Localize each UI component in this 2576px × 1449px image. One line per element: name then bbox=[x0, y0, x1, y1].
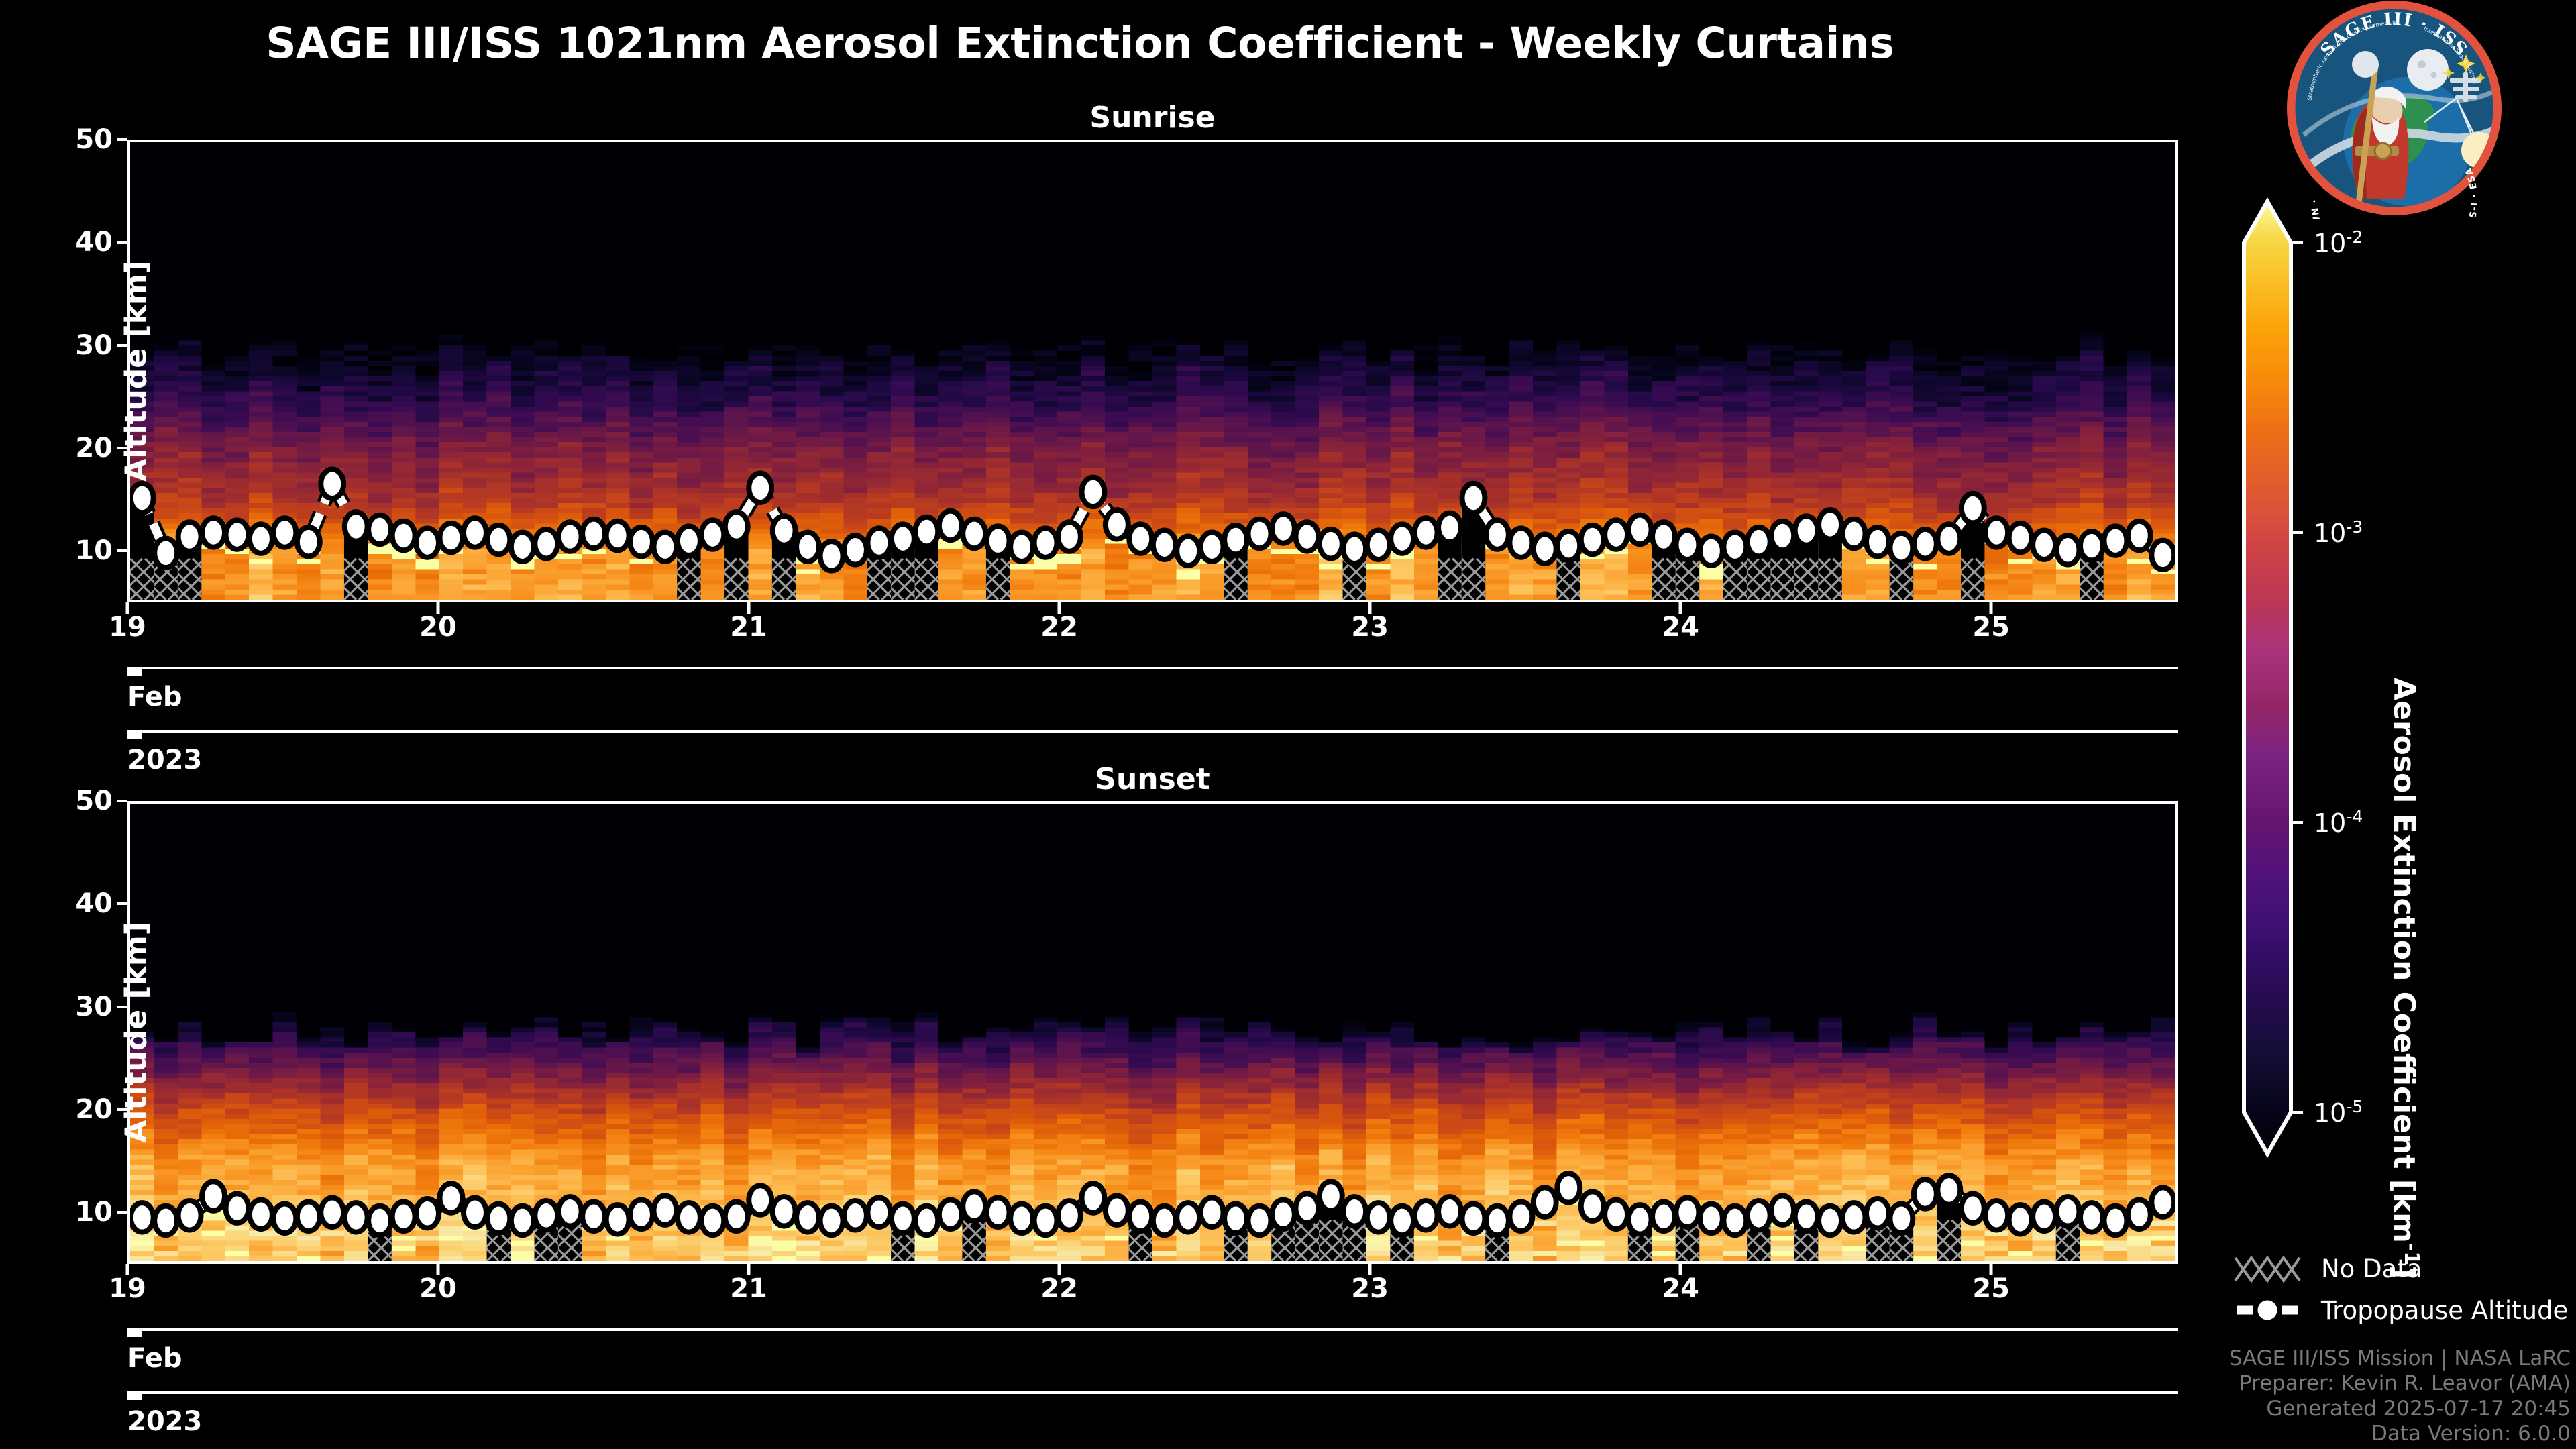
sunset-xtick-label: 19 bbox=[109, 1273, 146, 1304]
sunrise-xtick-mark bbox=[1368, 602, 1372, 614]
sage-iii-iss-mission-patch-logo: SAGE III · ISS Stratospheric Aerosol and… bbox=[2284, 0, 2505, 219]
sunrise-ytick-mark bbox=[117, 138, 127, 141]
sunset-xtick-label: 25 bbox=[1972, 1273, 2010, 1304]
date-level-rule bbox=[127, 1328, 2178, 1331]
footer-credits: SAGE III/ISS Mission | NASA LaRC Prepare… bbox=[2229, 1346, 2571, 1446]
sunset-xtick-label: 24 bbox=[1662, 1273, 1699, 1304]
colorbar-title: Aerosol Extinction Coefficient [km-1] bbox=[2387, 678, 2423, 1279]
sunrise-axes[interactable] bbox=[127, 140, 2178, 602]
cb-tick-mantissa: 10 bbox=[2314, 1098, 2346, 1128]
sunrise-ytick-mark bbox=[117, 344, 127, 347]
sunrise-xtick-mark bbox=[1990, 602, 1993, 614]
panel-sunrise: Sunrise Altitude [km] 1020304050 1920212… bbox=[127, 140, 2178, 602]
sunrise-xtick-mark bbox=[437, 602, 440, 614]
date-level-nub bbox=[127, 1391, 142, 1400]
sunset-date-level-month-label: Feb bbox=[127, 1343, 182, 1374]
footer-line-mission: SAGE III/ISS Mission | NASA LaRC bbox=[2229, 1346, 2571, 1371]
sunrise-ytick-label: 10 bbox=[75, 535, 113, 566]
sunset-xtick-label: 23 bbox=[1351, 1273, 1389, 1304]
colorbar-tick-mark bbox=[2291, 1111, 2303, 1114]
colorbar[interactable]: 10-210-310-410-5 Aerosol Extinction Coef… bbox=[2244, 201, 2291, 1154]
sunset-tropopause-series bbox=[130, 804, 2175, 1261]
sunset-ytick-label: 50 bbox=[75, 786, 113, 816]
sunrise-xtick-label: 23 bbox=[1351, 612, 1389, 643]
sunset-xtick-label: 20 bbox=[419, 1273, 457, 1304]
footer-line-version: Data Version: 6.0.0 bbox=[2229, 1421, 2571, 1446]
legend-label-tropopause: Tropopause Altitude bbox=[2309, 1296, 2568, 1325]
sunrise-xtick-label: 20 bbox=[419, 612, 457, 643]
date-level-nub bbox=[127, 1328, 142, 1337]
sunrise-ytick-mark bbox=[117, 447, 127, 449]
sunset-ytick-label: 10 bbox=[75, 1197, 113, 1228]
legend-item-tropopause: Tropopause Altitude bbox=[2234, 1289, 2568, 1331]
date-level-nub bbox=[127, 730, 142, 739]
cb-tick-mantissa: 10 bbox=[2314, 519, 2346, 548]
colorbar-tick-mark bbox=[2291, 531, 2303, 534]
sunrise-xtick-mark bbox=[126, 602, 129, 614]
sunset-date-level-year-label: 2023 bbox=[127, 1406, 202, 1437]
sunrise-xtick-mark bbox=[747, 602, 751, 614]
sunset-xtick-mark bbox=[747, 1264, 751, 1275]
date-level-rule bbox=[127, 1391, 2178, 1394]
sunset-axes[interactable] bbox=[127, 801, 2178, 1264]
cb-tick-exponent: -3 bbox=[2346, 517, 2363, 537]
sunset-ytick-label: 20 bbox=[75, 1094, 113, 1125]
page-title: SAGE III/ISS 1021nm Aerosol Extinction C… bbox=[0, 19, 2160, 68]
cb-tick-mantissa: 10 bbox=[2314, 229, 2346, 258]
sunrise-xtick-label: 25 bbox=[1972, 612, 2010, 643]
sunrise-xtick-label: 19 bbox=[109, 612, 146, 643]
sunset-ytick-mark bbox=[117, 1006, 127, 1008]
sunrise-date-level-month-label: Feb bbox=[127, 682, 182, 712]
sunrise-ytick-label: 50 bbox=[75, 124, 113, 155]
colorbar-tick-label: 10-4 bbox=[2314, 807, 2363, 838]
sunset-xtick-mark bbox=[1368, 1264, 1372, 1275]
sunset-xtick-label: 22 bbox=[1040, 1273, 1078, 1304]
footer-line-preparer: Preparer: Kevin R. Leavor (AMA) bbox=[2229, 1371, 2571, 1396]
sunset-xtick-mark bbox=[437, 1264, 440, 1275]
sunrise-ytick-label: 20 bbox=[75, 433, 113, 464]
colorbar-tick-label: 10-5 bbox=[2314, 1097, 2363, 1128]
legend: No Data Tropopause Altitude bbox=[2234, 1248, 2568, 1331]
date-level-nub bbox=[127, 667, 142, 676]
sunset-xtick-mark bbox=[1679, 1264, 1682, 1275]
sunset-xtick-mark bbox=[126, 1264, 129, 1275]
no-data-hatch-icon bbox=[2234, 1251, 2309, 1286]
tropopause-marker-icon bbox=[2234, 1293, 2309, 1328]
sunrise-tropopause-series bbox=[130, 142, 2175, 600]
sunrise-xtick-label: 21 bbox=[730, 612, 767, 643]
panel-sunrise-title: Sunrise bbox=[127, 101, 2178, 135]
sunset-xtick-mark bbox=[1990, 1264, 1993, 1275]
sunset-ytick-mark bbox=[117, 800, 127, 802]
sunrise-ytick-label: 30 bbox=[75, 330, 113, 361]
sunset-ytick-mark bbox=[117, 1108, 127, 1111]
colorbar-tick-mark bbox=[2291, 241, 2303, 244]
cb-tick-exponent: -5 bbox=[2346, 1097, 2363, 1116]
sunrise-xtick-mark bbox=[1679, 602, 1682, 614]
sunset-ytick-label: 30 bbox=[75, 991, 113, 1022]
legend-label-no-data: No Data bbox=[2309, 1254, 2422, 1283]
cb-tick-mantissa: 10 bbox=[2314, 808, 2346, 838]
sunset-ytick-mark bbox=[117, 1211, 127, 1214]
footer-line-generated: Generated 2025-07-17 20:45 bbox=[2229, 1397, 2571, 1421]
legend-item-no-data: No Data bbox=[2234, 1248, 2568, 1289]
sunrise-xtick-label: 22 bbox=[1040, 612, 1078, 643]
cb-tick-exponent: -2 bbox=[2346, 227, 2363, 247]
cb-tick-exponent: -4 bbox=[2346, 807, 2363, 826]
date-level-rule bbox=[127, 667, 2178, 669]
figure-canvas: SAGE III/ISS 1021nm Aerosol Extinction C… bbox=[0, 0, 2576, 1449]
sunrise-ytick-mark bbox=[117, 241, 127, 244]
sunset-xtick-label: 21 bbox=[730, 1273, 767, 1304]
sunset-xtick-mark bbox=[1058, 1264, 1061, 1275]
colorbar-tick-mark bbox=[2291, 821, 2303, 824]
colorbar-tick-label: 10-2 bbox=[2314, 227, 2363, 258]
sunrise-ytick-label: 40 bbox=[75, 227, 113, 258]
sunrise-xtick-label: 24 bbox=[1662, 612, 1699, 643]
colorbar-gradient bbox=[2244, 201, 2291, 1154]
date-level-rule bbox=[127, 730, 2178, 733]
sunset-ytick-label: 40 bbox=[75, 888, 113, 919]
sunrise-xtick-mark bbox=[1058, 602, 1061, 614]
sunset-ytick-mark bbox=[117, 902, 127, 905]
sunrise-ytick-mark bbox=[117, 549, 127, 552]
panel-sunset: Sunset Altitude [km] 1020304050 19202122… bbox=[127, 801, 2178, 1264]
panel-sunset-title: Sunset bbox=[127, 762, 2178, 796]
colorbar-tick-label: 10-3 bbox=[2314, 517, 2363, 548]
